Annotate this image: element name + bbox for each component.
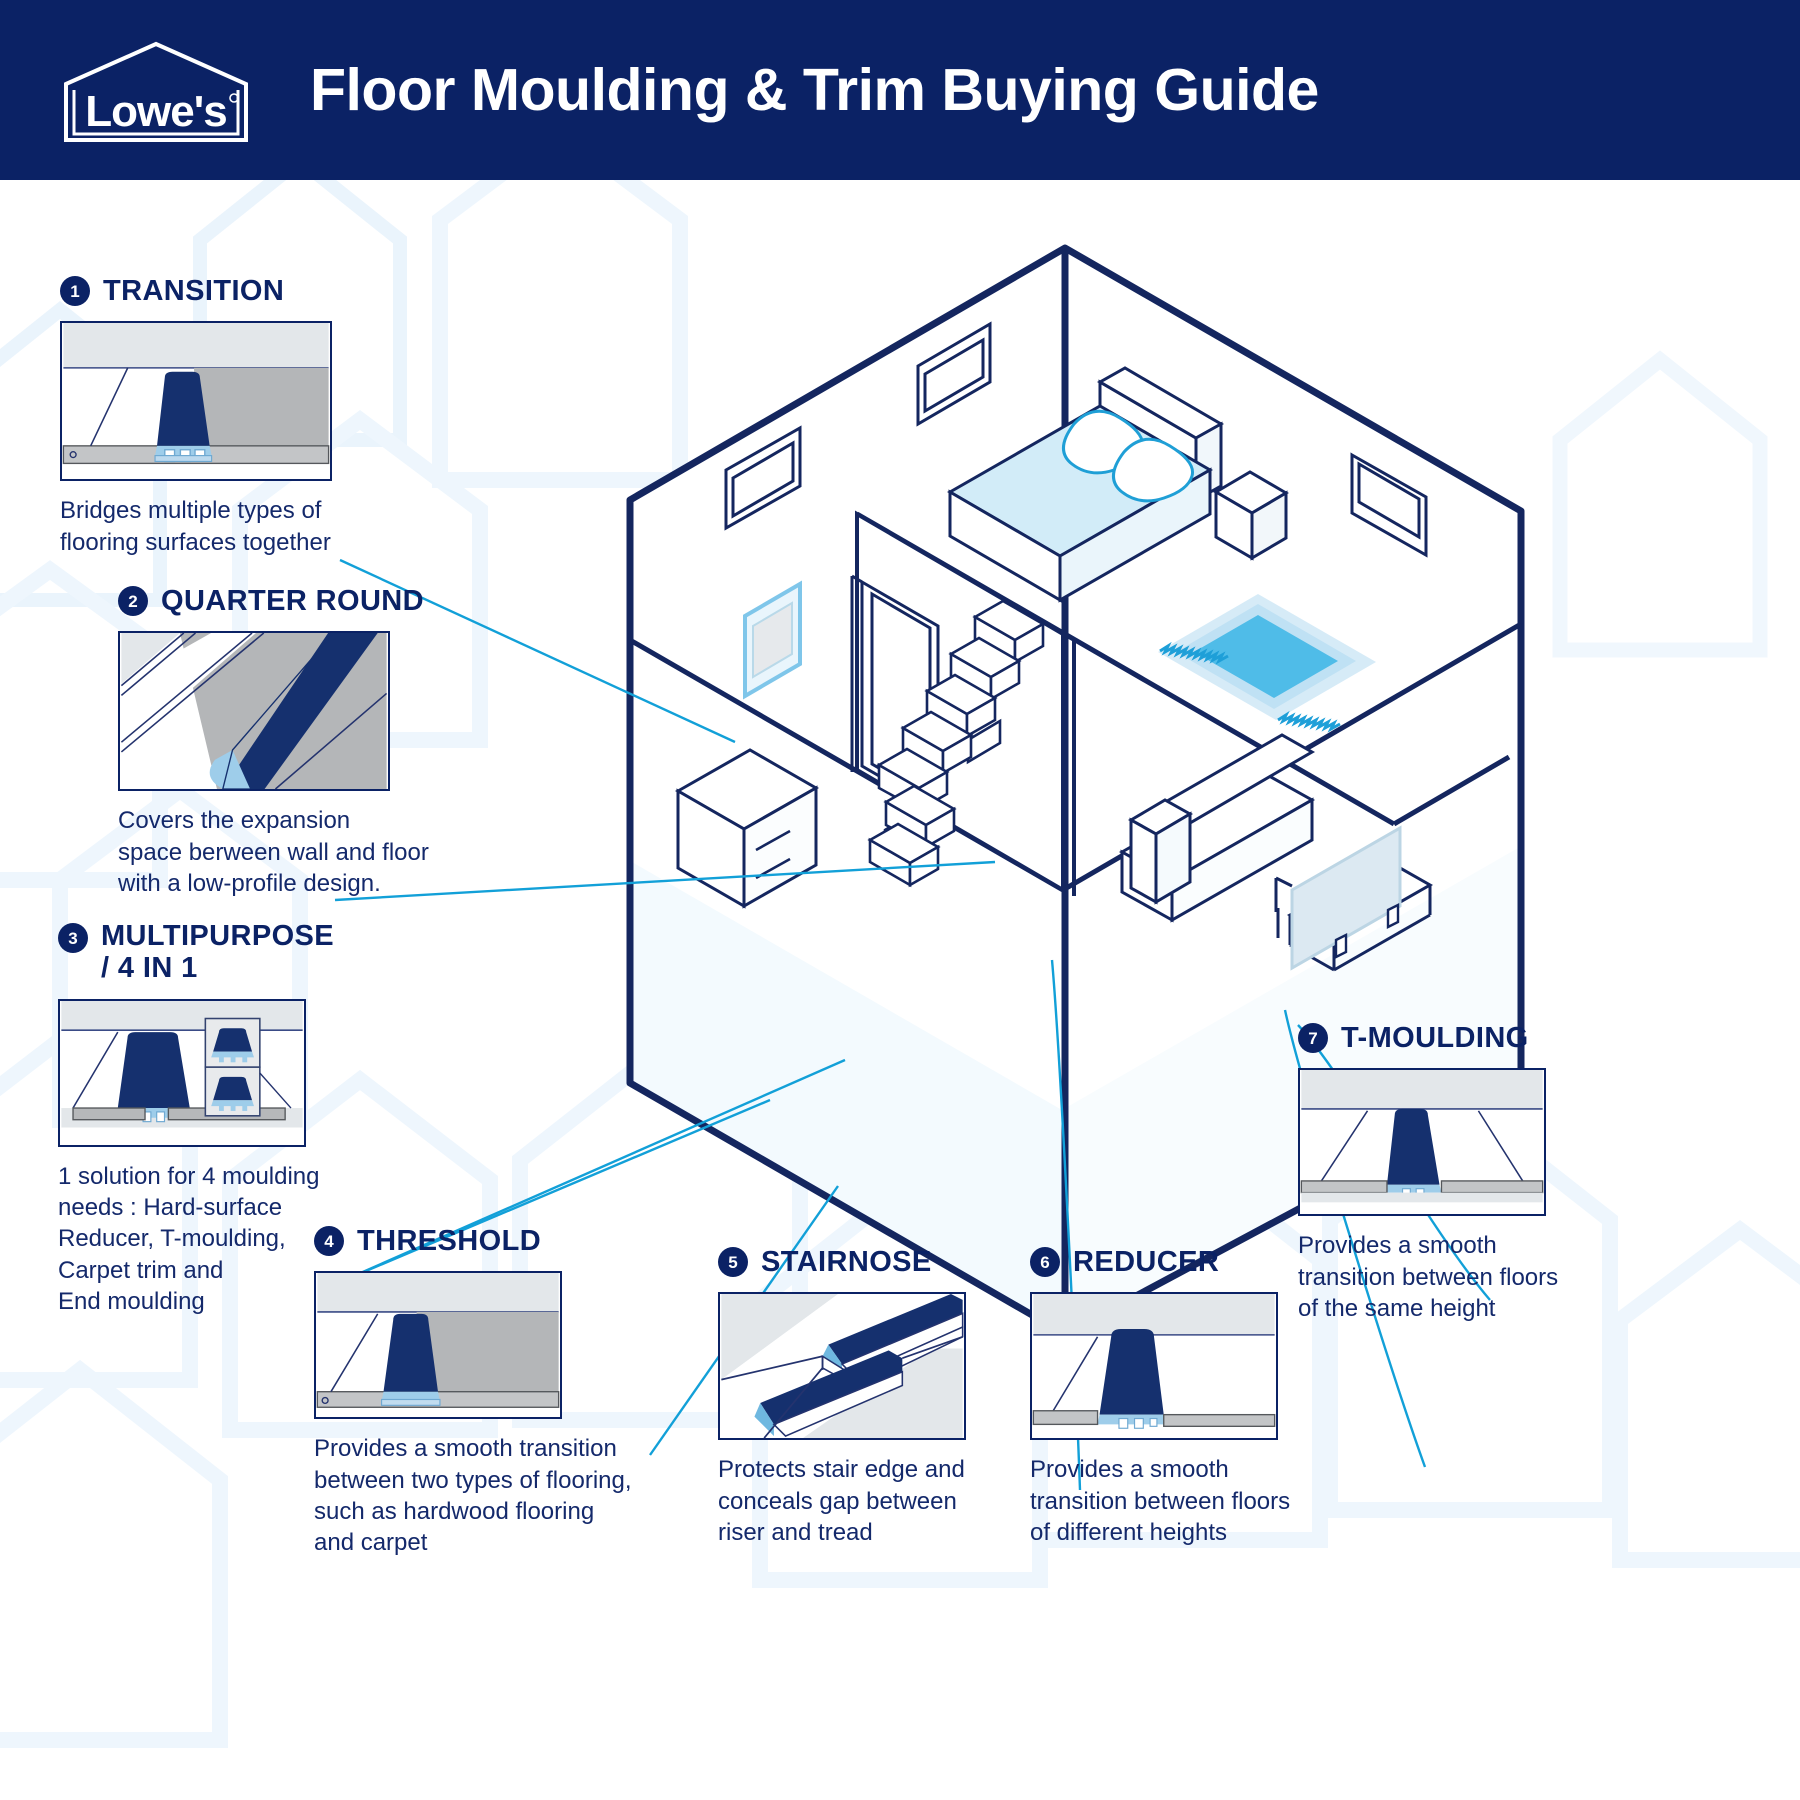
item-title: MULTIPURPOSE / 4 IN 1 (101, 920, 334, 985)
item-title: QUARTER ROUND (161, 585, 424, 617)
item-reducer[interactable]: 6 REDUCER Provides a smooth transition b… (1030, 1246, 1310, 1548)
item-stairnose[interactable]: 5 STAIRNOSE Protects stair edge an (718, 1246, 988, 1548)
item-title: REDUCER (1073, 1246, 1219, 1278)
item-caption: Provides a smooth transition between flo… (1298, 1230, 1598, 1324)
item-number-badge: 5 (718, 1247, 748, 1277)
item-title: THRESHOLD (357, 1225, 541, 1257)
item-number-badge: 7 (1298, 1023, 1328, 1053)
multipurpose-profile-diagram (58, 999, 306, 1147)
item-caption: Provides a smooth transition between flo… (1030, 1454, 1310, 1548)
item-threshold-head: 4 THRESHOLD (314, 1225, 654, 1257)
item-title: TRANSITION (103, 275, 284, 307)
item-number-badge: 1 (60, 276, 90, 306)
item-t-moulding[interactable]: 7 T-MOULDING Provides a smooth transitio… (1298, 1022, 1598, 1324)
item-caption: 1 solution for 4 moulding needs : Hard-s… (58, 1161, 358, 1317)
item-caption: Provides a smooth transition between two… (314, 1433, 654, 1558)
quarter-round-profile-diagram (118, 631, 390, 791)
item-caption: Covers the expansion space berween wall … (118, 805, 458, 899)
item-title: STAIRNOSE (761, 1246, 932, 1278)
page-header: Lowe's Floor Moulding & Trim Buying Guid… (0, 0, 1800, 180)
infographic-page: Lowe's Floor Moulding & Trim Buying Guid… (0, 0, 1800, 1800)
item-number-badge: 6 (1030, 1247, 1060, 1277)
item-t-moulding-head: 7 T-MOULDING (1298, 1022, 1598, 1054)
reducer-profile-diagram (1030, 1292, 1278, 1440)
threshold-profile-diagram (314, 1271, 562, 1419)
lowes-logo-text: Lowe's (85, 87, 226, 136)
t-moulding-profile-diagram (1298, 1068, 1546, 1216)
item-caption: Bridges multiple types of flooring surfa… (60, 495, 390, 557)
stairnose-profile-diagram (718, 1292, 966, 1440)
item-reducer-head: 6 REDUCER (1030, 1246, 1310, 1278)
item-transition[interactable]: 1 TRANSITION Bridges multiple types of f… (60, 275, 390, 558)
item-transition-head: 1 TRANSITION (60, 275, 390, 307)
lowes-logo[interactable]: Lowe's (58, 36, 258, 144)
item-stairnose-head: 5 STAIRNOSE (718, 1246, 988, 1278)
item-multipurpose-head: 3 MULTIPURPOSE / 4 IN 1 (58, 920, 358, 985)
item-caption: Protects stair edge and conceals gap bet… (718, 1454, 988, 1548)
item-multipurpose[interactable]: 3 MULTIPURPOSE / 4 IN 1 (58, 920, 358, 1317)
item-number-badge: 2 (118, 586, 148, 616)
item-number-badge: 4 (314, 1226, 344, 1256)
item-threshold[interactable]: 4 THRESHOLD Provides a smooth transition… (314, 1225, 654, 1558)
item-number-badge: 3 (58, 923, 88, 953)
transition-profile-diagram (60, 321, 332, 481)
item-title: T-MOULDING (1341, 1022, 1529, 1054)
item-quarter-round-head: 2 QUARTER ROUND (118, 585, 458, 617)
item-quarter-round[interactable]: 2 QUARTER ROUND Covers the expansion spa… (118, 585, 458, 899)
page-title: Floor Moulding & Trim Buying Guide (310, 56, 1319, 124)
